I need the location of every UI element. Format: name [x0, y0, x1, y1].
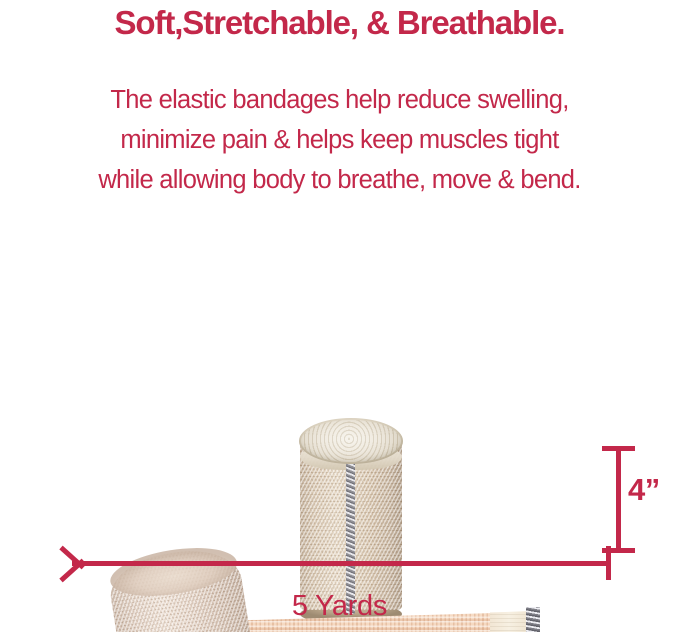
width-tick-bottom [602, 548, 635, 553]
length-dimension-line [72, 561, 609, 566]
width-dimension-line [616, 448, 621, 552]
length-label: 5 Yards [0, 592, 679, 621]
upright-roll-top-coil-texture [301, 420, 401, 462]
width-tick-top [602, 446, 635, 451]
subtitle-line-2: minimize pain & helps keep muscles tight [0, 128, 679, 154]
product-infographic: Soft,Stretchable, & Breathable. The elas… [0, 0, 679, 632]
page-title: Soft,Stretchable, & Breathable. [0, 6, 679, 41]
upright-bandage-roll [300, 418, 402, 618]
upright-roll-top-face [299, 418, 403, 464]
subtitle-line-3: while allowing body to breathe, move & b… [0, 168, 679, 194]
width-label: 4” [628, 474, 660, 505]
product-photo [0, 200, 679, 580]
subtitle-line-1: The elastic bandages help reduce swellin… [0, 88, 679, 114]
